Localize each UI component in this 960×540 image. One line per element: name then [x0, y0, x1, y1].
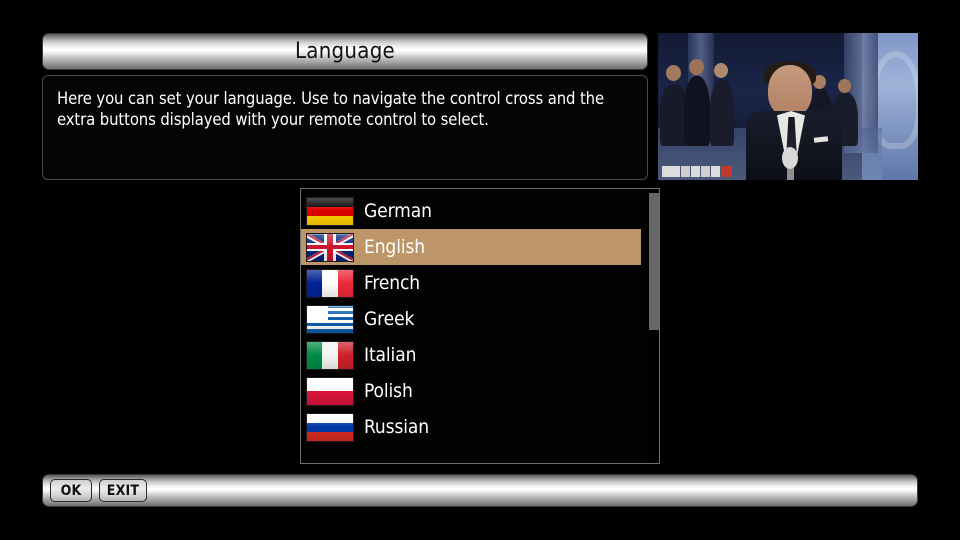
list-item-selected[interactable]: English	[301, 229, 641, 265]
footer-bar	[42, 474, 918, 507]
language-list: German English French	[301, 193, 641, 445]
list-item-label: Greek	[364, 308, 414, 330]
list-item-label: German	[364, 200, 432, 222]
list-item-label: Russian	[364, 416, 429, 438]
scrollbar-thumb[interactable]	[649, 193, 659, 330]
flag-united-kingdom-icon	[306, 233, 354, 262]
flag-italy-icon	[306, 341, 354, 370]
flag-poland-icon	[306, 377, 354, 406]
flag-greece-icon	[306, 305, 354, 334]
ok-button[interactable]: OK	[50, 479, 92, 502]
exit-button[interactable]: EXIT	[99, 479, 147, 502]
list-item-label: French	[364, 272, 420, 294]
flag-germany-icon	[306, 197, 354, 226]
video-crowd-head	[714, 63, 728, 78]
microphone-head	[782, 147, 798, 169]
tv-settings-screen: Language Here you can set your language.…	[0, 0, 960, 540]
language-list-panel[interactable]: German English French	[300, 188, 660, 464]
list-item[interactable]: Greek	[301, 301, 641, 337]
list-item-label: English	[364, 236, 425, 258]
flag-france-icon	[306, 269, 354, 298]
video-reporter	[746, 61, 842, 180]
broadcaster-logo	[662, 166, 736, 177]
reporter-face	[768, 65, 812, 117]
video-preview[interactable]	[658, 33, 918, 180]
description-box: Here you can set your language. Use to n…	[42, 75, 648, 180]
page-title: Language	[295, 39, 395, 64]
list-item[interactable]: German	[301, 193, 641, 229]
list-item[interactable]: French	[301, 265, 641, 301]
list-item-label: Polish	[364, 380, 413, 402]
title-bar: Language	[42, 33, 648, 70]
video-crowd-figure	[684, 76, 710, 146]
description-text: Here you can set your language. Use to n…	[57, 88, 633, 130]
list-item[interactable]: Italian	[301, 337, 641, 373]
video-crowd-figure	[710, 80, 734, 146]
list-item-label: Italian	[364, 344, 416, 366]
flag-russia-icon	[306, 413, 354, 442]
video-crowd-head	[666, 65, 681, 81]
list-item[interactable]: Russian	[301, 409, 641, 445]
list-item[interactable]: Polish	[301, 373, 641, 409]
video-crowd-head	[689, 59, 704, 75]
